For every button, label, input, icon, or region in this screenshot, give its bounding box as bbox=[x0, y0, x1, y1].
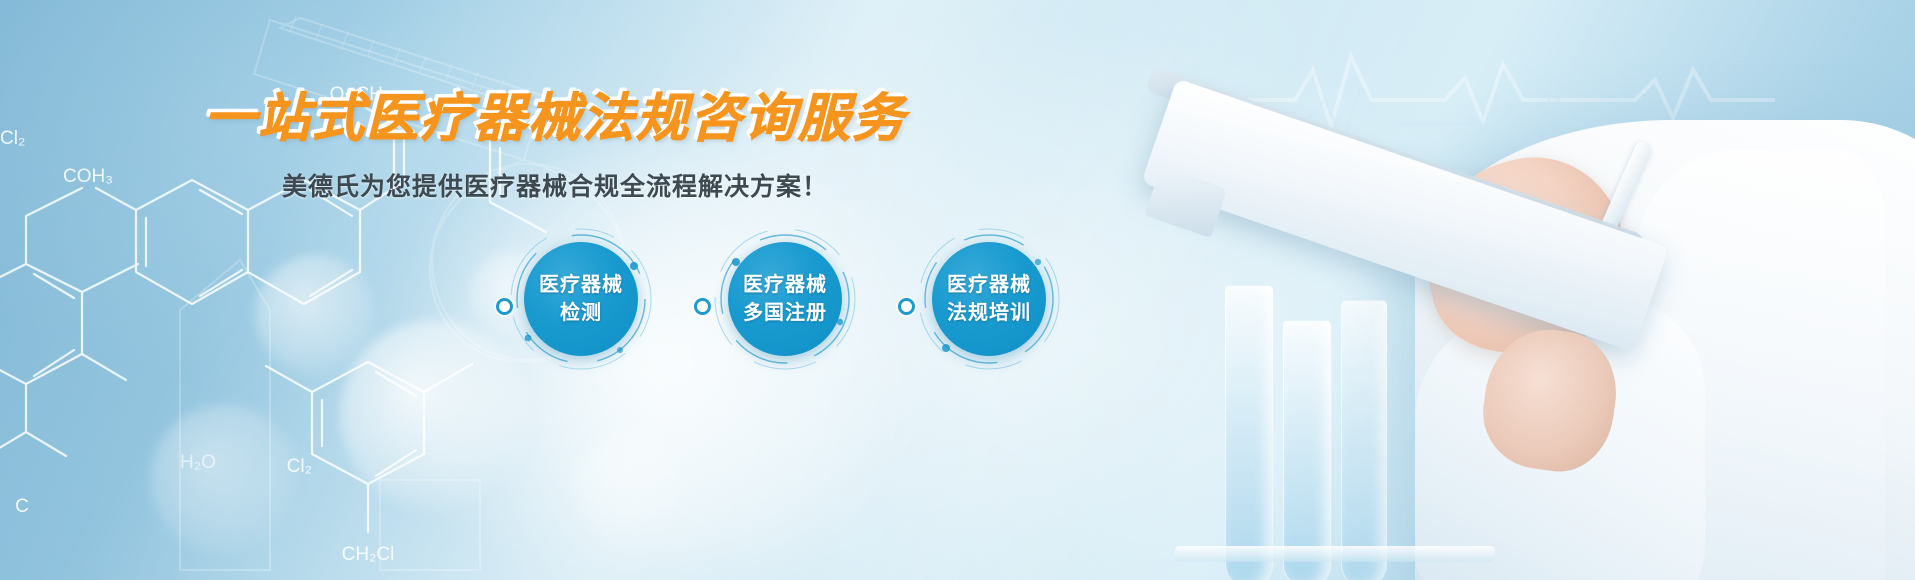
doctor-hand-lower bbox=[1476, 322, 1624, 479]
clipboard-edge bbox=[1145, 66, 1645, 260]
badge-label-line1: 医疗器械 bbox=[539, 273, 623, 297]
connector-node-dot bbox=[694, 298, 711, 315]
clipboard-clip bbox=[1144, 166, 1227, 238]
lab-coat-sleeve bbox=[1415, 300, 1705, 580]
service-badge-medical-device-multi-country-registration[interactable]: 医疗器械 多国注册 bbox=[712, 226, 858, 372]
lab-photo-composition bbox=[1115, 0, 1915, 580]
banner-headline: 一站式医疗器械法规咨询服务 bbox=[204, 92, 906, 147]
badge-label-line1: 医疗器械 bbox=[947, 273, 1031, 297]
chem-label-cl2-lower: Cl₂ bbox=[287, 456, 312, 477]
badge-disc: 医疗器械 检测 bbox=[524, 242, 638, 356]
service-badge-group: 医疗器械 检测 医疗器械 多国注册 bbox=[508, 222, 1108, 382]
bokeh-light bbox=[255, 255, 375, 375]
test-tube bbox=[1225, 285, 1273, 580]
medical-device-consulting-banner: Cl₂ COH₃ O−CH₂ H₂O Cl₂ CH₂Cl Cl C Cl O 一… bbox=[0, 0, 1915, 580]
banner-subline: 美德氏为您提供医疗器械合规全流程解决方案！ bbox=[0, 167, 1110, 203]
bokeh-light bbox=[150, 405, 300, 555]
doctor-lab-coat bbox=[1415, 120, 1915, 580]
ecg-line-icon bbox=[1235, 30, 1775, 150]
bokeh-light bbox=[340, 320, 530, 510]
tube-rack-shelf bbox=[1175, 546, 1495, 562]
chem-label-c: C bbox=[15, 496, 29, 517]
clipboard bbox=[1141, 78, 1668, 351]
chem-label-ch2cl: CH₂Cl bbox=[342, 544, 395, 565]
headline-block: 一站式医疗器械法规咨询服务 美德氏为您提供医疗器械合规全流程解决方案！ bbox=[0, 92, 1110, 203]
lab-coat-fold bbox=[1635, 150, 1885, 580]
service-badge-medical-device-regulatory-training[interactable]: 医疗器械 法规培训 bbox=[916, 226, 1062, 372]
badge-disc: 医疗器械 多国注册 bbox=[728, 242, 842, 356]
pen-icon bbox=[1561, 140, 1653, 320]
test-tube bbox=[1341, 300, 1387, 580]
service-badge-medical-device-testing[interactable]: 医疗器械 检测 bbox=[508, 226, 654, 372]
badge-label-line1: 医疗器械 bbox=[743, 273, 827, 297]
test-tube bbox=[1283, 320, 1331, 580]
doctor-hand bbox=[1405, 139, 1645, 372]
bokeh-light bbox=[575, 430, 685, 540]
connector-node-dot bbox=[496, 298, 513, 315]
badge-label-line2: 检测 bbox=[560, 301, 602, 325]
chem-label-h2o: H₂O bbox=[180, 452, 216, 473]
badge-label-line2: 法规培训 bbox=[947, 301, 1031, 325]
badge-disc: 医疗器械 法规培训 bbox=[932, 242, 1046, 356]
badge-label-line2: 多国注册 bbox=[743, 301, 827, 325]
connector-node-dot bbox=[898, 298, 915, 315]
